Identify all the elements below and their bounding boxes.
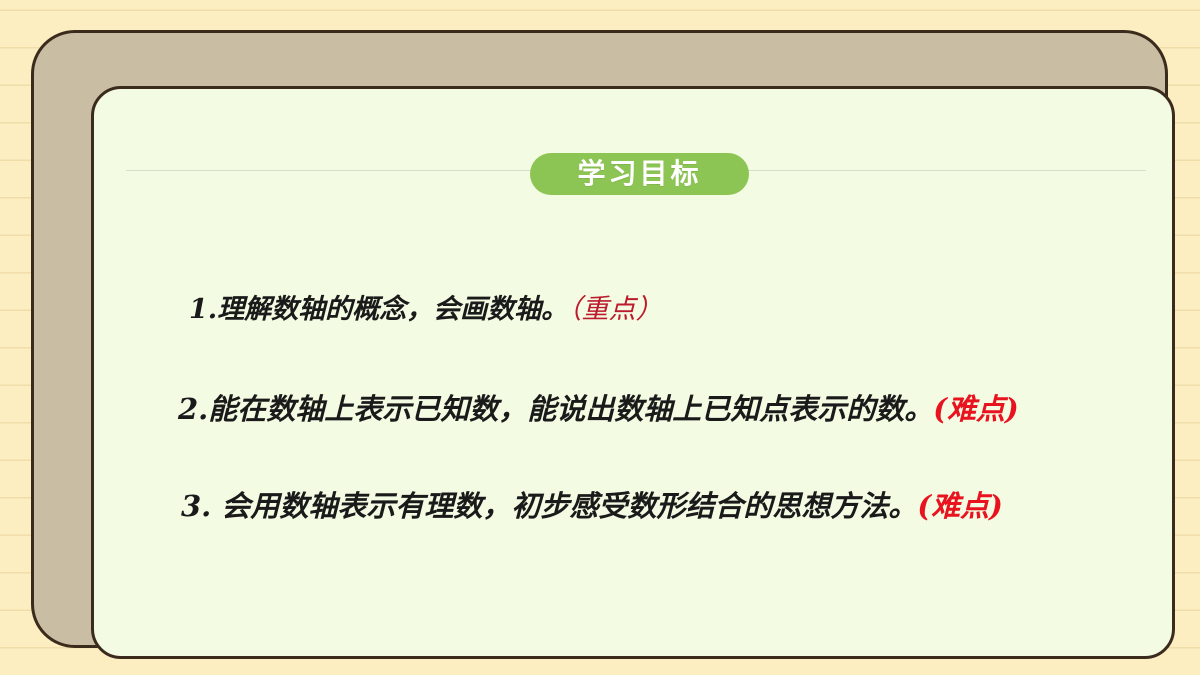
objective-3-number: 3.	[181, 489, 221, 523]
objective-3-text: 会用数轴表示有理数，初步感受数形结合的思想方法。	[221, 489, 917, 523]
objective-item-3: 3. 会用数轴表示有理数，初步感受数形结合的思想方法。(难点)	[181, 483, 1003, 525]
objective-item-1: 1.理解数轴的概念，会画数轴。（重点）	[189, 287, 663, 326]
objective-1-number: 1.	[189, 294, 217, 325]
objective-2-text: 能在数轴上表示已知数，能说出数轴上已知点表示的数。	[208, 392, 933, 426]
objectives-list: 1.理解数轴的概念，会画数轴。（重点） 2.能在数轴上表示已知数，能说出数轴上已…	[94, 89, 1172, 656]
objective-3-tag: (难点)	[917, 489, 1002, 523]
slide-root: 学习目标 1.理解数轴的概念，会画数轴。（重点） 2.能在数轴上表示已知数，能说…	[0, 0, 1200, 675]
objective-1-text: 理解数轴的概念，会画数轴。	[217, 294, 568, 325]
objective-2-tag: (难点)	[933, 392, 1018, 426]
decorative-outer-frame: 学习目标 1.理解数轴的概念，会画数轴。（重点） 2.能在数轴上表示已知数，能说…	[31, 30, 1168, 648]
content-panel: 学习目标 1.理解数轴的概念，会画数轴。（重点） 2.能在数轴上表示已知数，能说…	[91, 86, 1175, 659]
objective-item-2: 2.能在数轴上表示已知数，能说出数轴上已知点表示的数。(难点)	[178, 386, 1019, 428]
objective-2-number: 2.	[178, 392, 208, 426]
objective-1-tag: （重点）	[568, 294, 663, 325]
